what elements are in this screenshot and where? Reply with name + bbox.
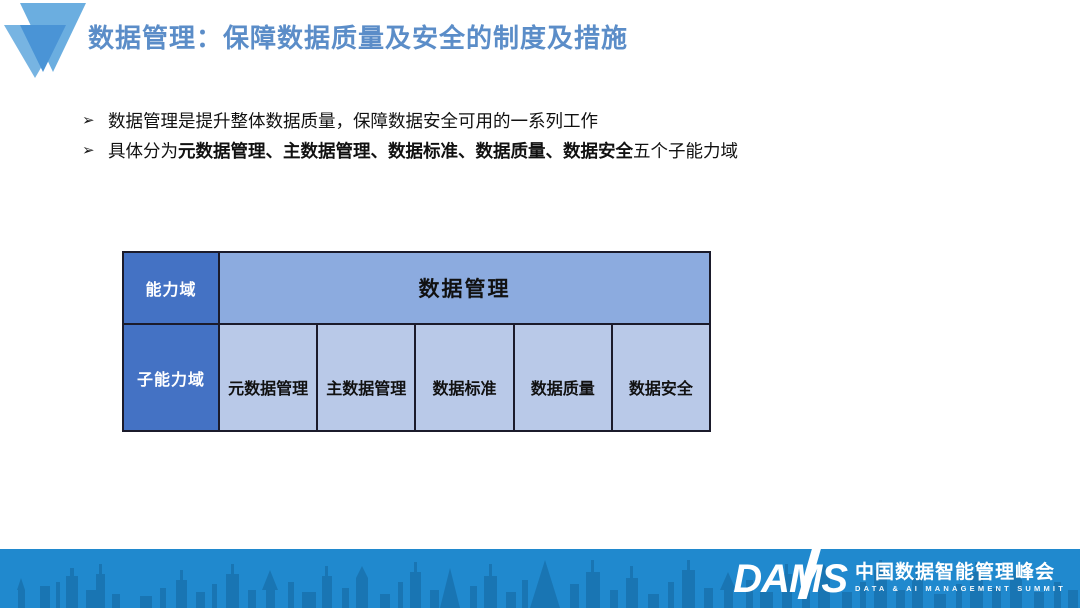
dams-chinese-name: 中国数据智能管理峰会 [855,563,1066,584]
dams-wordmark-text: DAMS [733,557,847,601]
text-segment: 数据管理是提升整体数据质量，保障数据安全可用的一系列工作 [108,111,598,131]
footer-banner: DAMS 中国数据智能管理峰会 DATA & AI MANAGEMENT SUM… [0,549,1080,608]
page-title: 数据管理：保障数据质量及安全的制度及措施 [88,18,628,55]
capability-table: 能力域 数据管理 子能力域 元数据管理 主数据管理 数据标准 数据质量 数据安全 [122,251,711,432]
dams-english-name: DATA & AI MANAGEMENT SUMMIT [855,585,1066,593]
list-item-text: 具体分为元数据管理、主数据管理、数据标准、数据质量、数据安全五个子能力域 [108,136,738,166]
slide: 数据管理：保障数据质量及安全的制度及措施 ➢ 数据管理是提升整体数据质量，保障数… [0,0,1080,608]
text-segment: 五个子能力域 [633,141,738,161]
cell-data-standard: 数据标准 [414,325,512,430]
double-triangle-logo-icon [4,0,86,82]
cell-data-security: 数据安全 [611,325,709,430]
cell-data-management: 数据管理 [218,253,709,323]
dams-brand-logo: DAMS 中国数据智能管理峰会 DATA & AI MANAGEMENT SUM… [733,559,1066,599]
dams-wordmark: DAMS [733,559,847,599]
cell-master-data-management: 主数据管理 [316,325,414,430]
arrow-bullet-icon: ➢ [82,106,108,136]
row-header-capability-domain: 能力域 [124,253,218,323]
row-header-sub-capability-domain: 子能力域 [124,325,218,430]
table-row: 子能力域 元数据管理 主数据管理 数据标准 数据质量 数据安全 [124,323,709,430]
table-row: 能力域 数据管理 [124,253,709,323]
text-segment-bold: 元数据管理、主数据管理、数据标准、数据质量、数据安全 [178,141,633,161]
list-item: ➢ 数据管理是提升整体数据质量，保障数据安全可用的一系列工作 [82,106,942,136]
list-item-text: 数据管理是提升整体数据质量，保障数据安全可用的一系列工作 [108,106,598,136]
cell-metadata-management: 元数据管理 [218,325,316,430]
text-segment: 具体分为 [108,141,178,161]
bullet-list: ➢ 数据管理是提升整体数据质量，保障数据安全可用的一系列工作 ➢ 具体分为元数据… [82,106,942,166]
cell-data-quality: 数据质量 [513,325,611,430]
dams-subtitle-block: 中国数据智能管理峰会 DATA & AI MANAGEMENT SUMMIT [855,563,1066,593]
arrow-bullet-icon: ➢ [82,136,108,166]
list-item: ➢ 具体分为元数据管理、主数据管理、数据标准、数据质量、数据安全五个子能力域 [82,136,942,166]
